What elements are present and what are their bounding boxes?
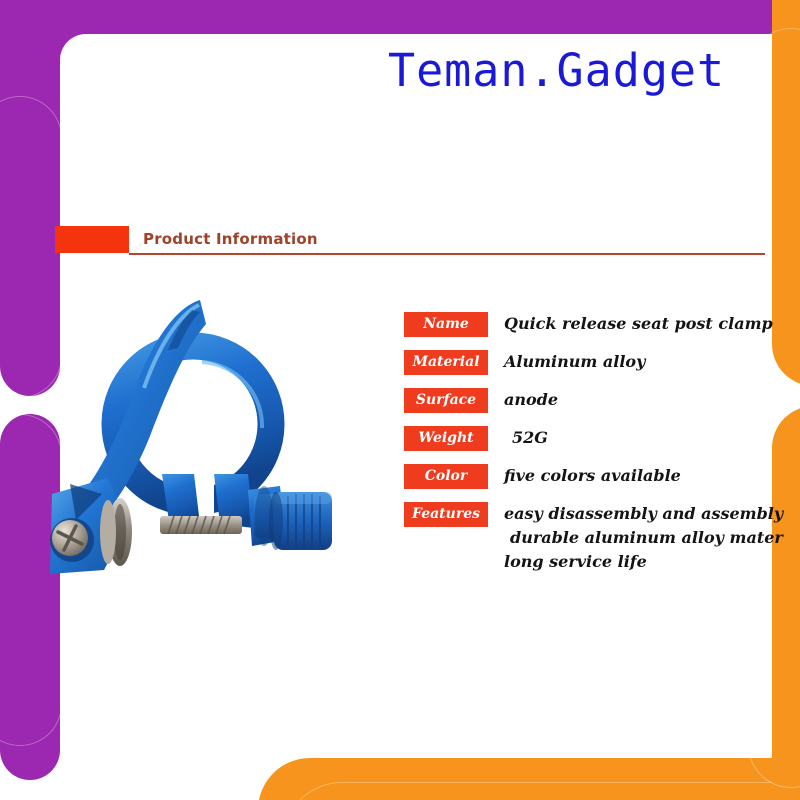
section-header: Product Information	[55, 226, 765, 260]
section-header-accent-block	[55, 226, 129, 253]
spec-row-name: Name Quick release seat post clamp	[404, 312, 794, 350]
spec-label-features: Features	[404, 502, 488, 527]
spec-value-features: easy disassembly and assembly durable al…	[504, 502, 800, 574]
frame-bottom-orange-bar	[258, 758, 800, 800]
frame-corner-top-left	[60, 34, 86, 60]
spec-row-weight: Weight 52G	[404, 426, 794, 464]
spec-label-surface: Surface	[404, 388, 488, 413]
spec-label-material: Material	[404, 350, 488, 375]
spec-value-features-line-1: easy disassembly and assembly	[504, 502, 800, 526]
spec-label-weight: Weight	[404, 426, 488, 451]
frame-top-purple-bar	[0, 0, 800, 34]
spec-value-weight: 52G	[512, 426, 548, 450]
spec-label-color: Color	[404, 464, 488, 489]
product-photo	[42, 288, 362, 588]
spec-value-features-line-2: durable aluminum alloy mater	[504, 526, 800, 550]
spec-value-features-line-3: long service life	[504, 550, 800, 574]
spec-row-material: Material Aluminum alloy	[404, 350, 794, 388]
spec-value-name: Quick release seat post clamp	[504, 312, 773, 336]
brand-logo: Teman.Gadget	[388, 44, 725, 97]
spec-row-color: Color five colors available	[404, 464, 794, 502]
spec-row-features: Features easy disassembly and assembly d…	[404, 502, 794, 540]
spec-value-color: five colors available	[504, 464, 681, 488]
product-listing-image: Teman.Gadget Product Information	[0, 0, 800, 800]
seat-post-clamp-illustration	[42, 288, 362, 588]
section-header-title: Product Information	[143, 230, 318, 248]
spec-value-material: Aluminum alloy	[504, 350, 645, 374]
spec-value-surface: anode	[504, 388, 558, 412]
spec-label-name: Name	[404, 312, 488, 337]
section-header-rule	[129, 253, 765, 255]
spec-table: Name Quick release seat post clamp Mater…	[404, 312, 794, 540]
spec-row-surface: Surface anode	[404, 388, 794, 426]
